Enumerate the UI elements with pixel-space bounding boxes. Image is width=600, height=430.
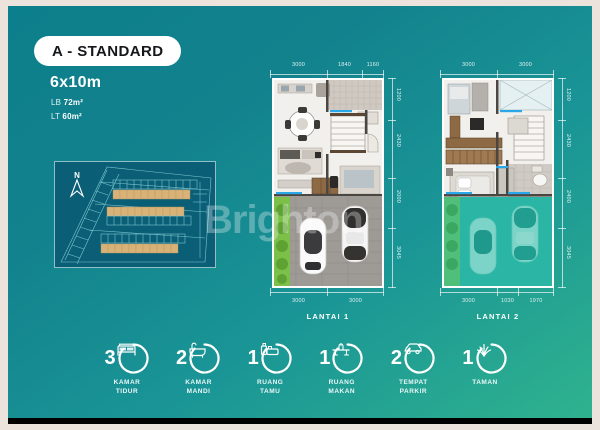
floor2-dim-bottom-0: 3000 [440,298,497,304]
floor2-drawing [442,78,554,288]
floor1-dim-right-0: 1200 [395,88,401,101]
floor1-dim-right-2: 2000 [395,190,401,203]
floor1-dim-top-0: 3000 [270,62,327,68]
feature-parking: 2 TEMPATPARKIR [382,340,444,396]
feature-bathrooms-count: 2 [176,348,187,368]
land-area: LT 60m² [51,112,82,121]
listing-card: A - STANDARD 6x10m LB 72m² LT 60m² [8,6,592,424]
floor1-dim-bottom-0: 3000 [270,298,327,304]
floor2-dim-bottom-1: 1030 [497,298,518,304]
type-badge-label: A - STANDARD [52,43,163,60]
feature-parking-count: 2 [391,348,402,368]
feature-garden-count: 1 [462,348,473,368]
feature-bedrooms-count: 3 [104,348,115,368]
floor-plan-2: 3000 3000 [440,62,558,312]
sofa-icon [260,342,293,375]
floor1-dim-bottom-1: 3000 [327,298,384,304]
floor2-dim-top-1: 3000 [497,62,554,68]
floor2-dim-bottom-2: 1970 [518,298,554,304]
floor2-caption: LANTAI 2 [440,312,556,321]
feature-living-room: 1 RUANGTAMU [239,340,301,396]
lt-value: 60m² [62,112,81,121]
poster-frame: A - STANDARD 6x10m LB 72m² LT 60m² [0,0,600,430]
feature-garden-label: TAMAN [472,379,498,388]
lb-prefix: LB [51,98,64,107]
feature-garden: 1 [454,340,516,396]
floor1-dim-right-3: 3045 [395,246,401,259]
feature-bedrooms-label: KAMARTIDUR [114,379,141,396]
floor1-caption: LANTAI 1 [270,312,386,321]
floor2-dim-right-1: 2430 [565,134,571,147]
svg-text:N: N [74,171,80,180]
feature-living-room-count: 1 [248,348,259,368]
bathtub-icon [188,342,221,375]
dining-table-icon [331,342,364,375]
floor2-dim-right-2: 2400 [565,190,571,203]
lb-value: 72m² [64,98,83,107]
car-icon [403,342,436,375]
floor1-dim-top-1: 1840 [327,62,362,68]
floor-plan-1: 3000 1840 1160 [270,62,388,312]
feature-bathrooms: 2 KAMARMANDI [168,340,230,396]
feature-list: 3 KAMARTIDU [96,340,516,396]
feature-dining-room-count: 1 [319,348,330,368]
feature-dining-room: 1 RUANGMAKA [311,340,373,396]
floor2-dim-right-0: 1200 [565,88,571,101]
grass-icon [475,342,508,375]
floor1-dim-right-1: 2430 [395,134,401,147]
feature-dining-room-label: RUANGMAKAN [328,379,355,396]
feature-bathrooms-label: KAMARMANDI [185,379,212,396]
floor1-dim-top-2: 1160 [362,62,384,68]
floor2-dim-right-3: 3045 [565,246,571,259]
bed-icon [117,342,150,375]
floor2-dim-top-0: 3000 [440,62,497,68]
unit-size: 6x10m [50,74,101,92]
floor1-drawing [272,78,384,288]
feature-living-room-label: RUANGTAMU [257,379,283,396]
feature-parking-label: TEMPATPARKIR [399,379,428,396]
building-area: LB 72m² [51,98,83,107]
lt-prefix: LT [51,112,62,121]
site-plan-map: N [54,161,216,268]
compass-icon: N [67,170,87,198]
type-badge: A - STANDARD [34,36,181,66]
feature-bedrooms: 3 KAMARTIDU [96,340,158,396]
